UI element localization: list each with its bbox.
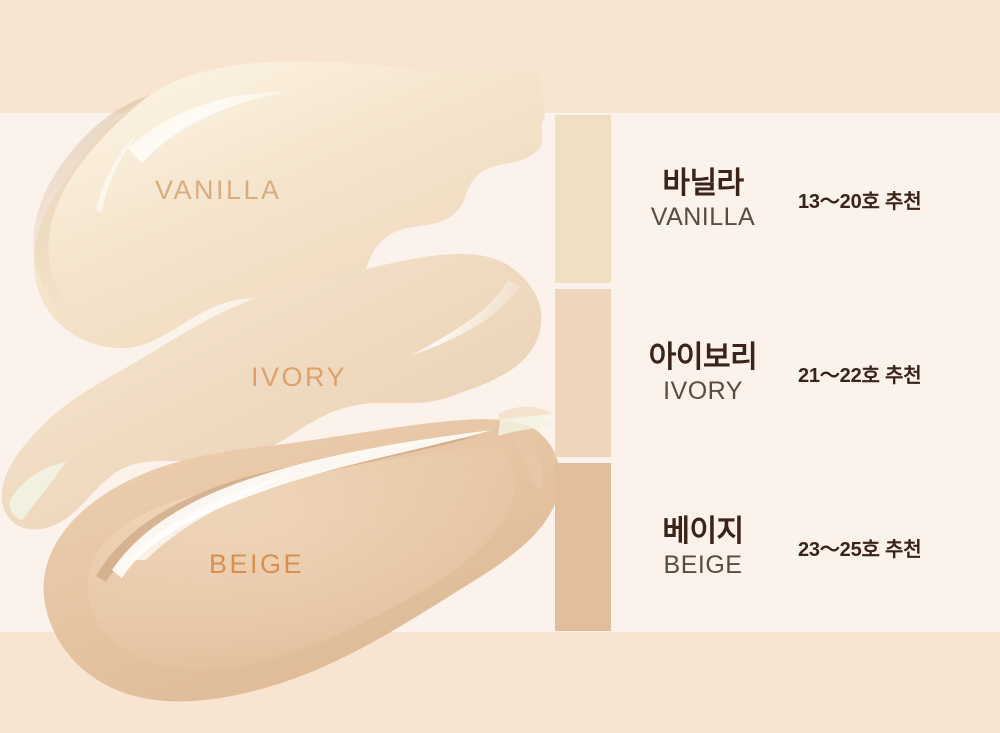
- smear-label-beige: BEIGE: [209, 549, 304, 580]
- smear-label-vanilla: VANILLA: [155, 175, 282, 206]
- shade-chip-column: [555, 113, 611, 632]
- shade-name-en-vanilla: VANILLA: [626, 202, 780, 232]
- shade-name-block-vanilla: 바닐라 VANILLA: [612, 167, 780, 233]
- shade-row-vanilla: 바닐라 VANILLA 13〜20호 추천: [612, 113, 1000, 286]
- shade-chip-vanilla: [555, 115, 611, 283]
- shade-name-block-ivory: 아이보리 IVORY: [612, 341, 780, 407]
- shade-row-beige: 베이지 BEIGE 23〜25호 추천: [612, 461, 1000, 634]
- shade-list: 바닐라 VANILLA 13〜20호 추천 아이보리 IVORY 21〜22호 …: [612, 113, 1000, 632]
- shade-recommendation-ivory: 21〜22호 추천: [780, 359, 1000, 388]
- smear-label-ivory: IVORY: [251, 362, 347, 393]
- shade-row-ivory: 아이보리 IVORY 21〜22호 추천: [612, 287, 1000, 460]
- shade-name-ko-vanilla: 바닐라: [626, 167, 780, 201]
- shade-name-en-beige: BEIGE: [626, 550, 780, 580]
- shade-name-ko-beige: 베이지: [626, 515, 780, 549]
- shade-chip-beige: [555, 463, 611, 631]
- shade-recommendation-beige: 23〜25호 추천: [780, 533, 1000, 562]
- shade-chip-ivory: [555, 289, 611, 457]
- shade-name-block-beige: 베이지 BEIGE: [612, 515, 780, 581]
- shade-name-en-ivory: IVORY: [626, 376, 780, 406]
- shade-recommendation-vanilla: 13〜20호 추천: [780, 185, 1000, 214]
- shade-chart: VANILLA IVORY BEIGE 바닐라 VANILLA 13〜20호 추…: [0, 0, 1000, 733]
- shade-name-ko-ivory: 아이보리: [626, 341, 780, 375]
